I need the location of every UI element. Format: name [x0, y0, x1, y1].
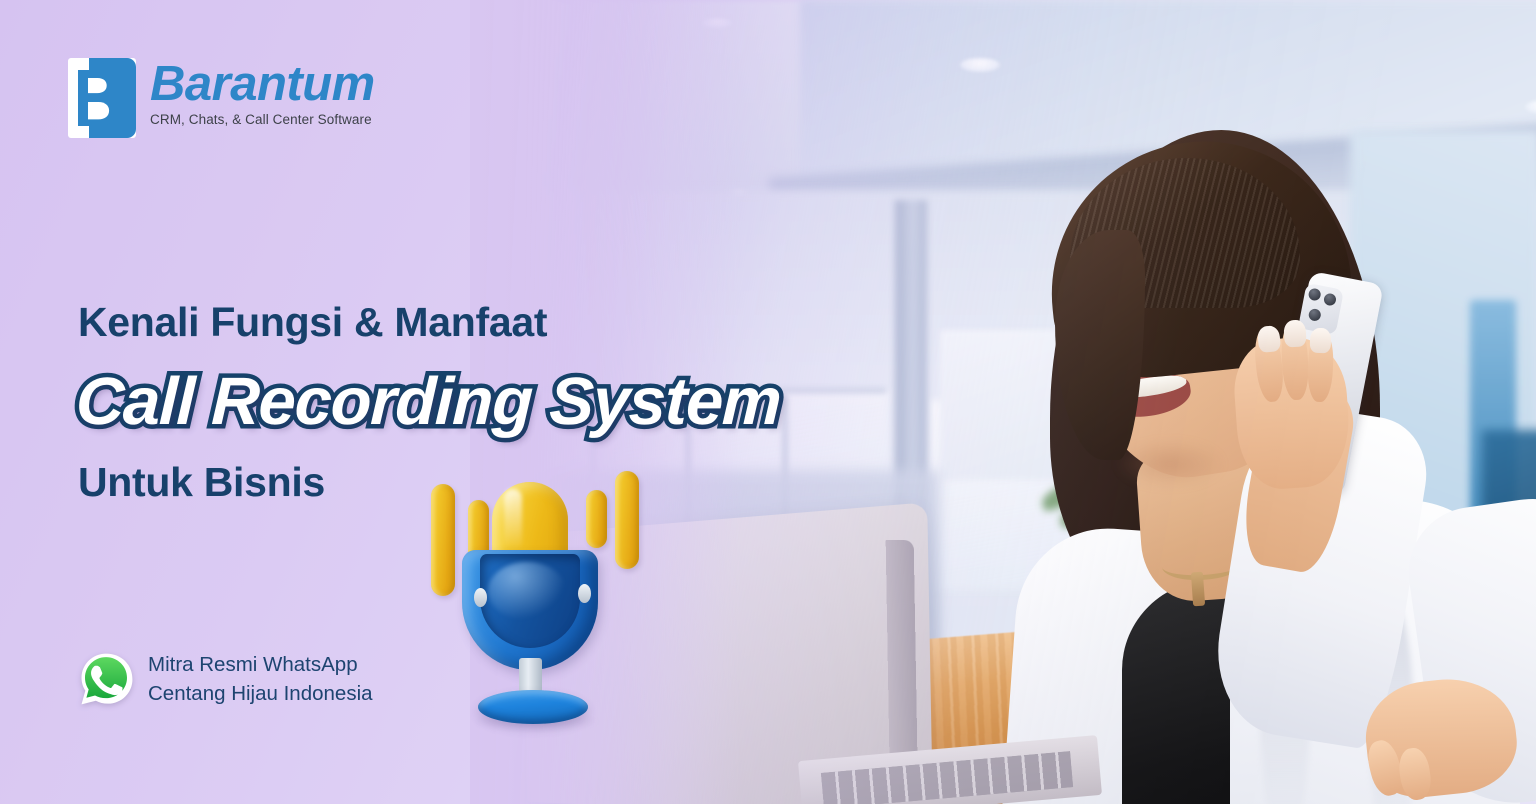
- chin-shadow: [1115, 440, 1225, 488]
- capsule-highlight: [504, 489, 522, 551]
- promo-banner: Barantum CRM, Chats, & Call Center Softw…: [0, 0, 1536, 804]
- yoke-knob-left: [474, 588, 487, 607]
- fingernail: [1283, 319, 1306, 347]
- downlight-icon: [702, 18, 732, 28]
- whatsapp-partner-badge[interactable]: Mitra Resmi WhatsApp Centang Hijau Indon…: [78, 650, 373, 708]
- microphone-base: [478, 690, 588, 724]
- barantum-b-logo-icon: [68, 58, 136, 138]
- camera-lens-icon: [1308, 287, 1322, 301]
- camera-lens-icon: [1308, 308, 1322, 322]
- logo-text-block: Barantum CRM, Chats, & Call Center Softw…: [150, 58, 375, 127]
- sound-wave-bar: [615, 471, 639, 569]
- sound-wave-bar: [431, 484, 455, 596]
- whatsapp-badge-line1: Mitra Resmi WhatsApp: [148, 650, 373, 679]
- downlight-icon: [960, 58, 1000, 72]
- yoke-highlight: [488, 562, 566, 620]
- brand-name: Barantum: [150, 61, 375, 108]
- necklace-pendant: [1191, 572, 1205, 607]
- sound-wave-bar: [586, 490, 607, 548]
- yoke-knob-right: [578, 584, 591, 603]
- woman-on-phone: [900, 80, 1536, 804]
- whatsapp-badge-line2: Centang Hijau Indonesia: [148, 679, 373, 708]
- subheadline-text: Untuk Bisnis: [78, 459, 325, 506]
- whatsapp-badge-text: Mitra Resmi WhatsApp Centang Hijau Indon…: [148, 650, 373, 708]
- 3d-microphone-icon: [418, 462, 658, 712]
- whatsapp-icon: [78, 651, 134, 707]
- barantum-logo[interactable]: Barantum CRM, Chats, & Call Center Softw…: [68, 58, 375, 138]
- logo-b-glyph-icon: [76, 69, 122, 127]
- eyebrow-text: Kenali Fungsi & Manfaat: [78, 299, 547, 346]
- brand-tagline: CRM, Chats, & Call Center Software: [150, 112, 375, 127]
- page-title: Call Recording System: [75, 363, 782, 440]
- fingernail: [1310, 328, 1332, 354]
- camera-lens-icon: [1323, 293, 1337, 307]
